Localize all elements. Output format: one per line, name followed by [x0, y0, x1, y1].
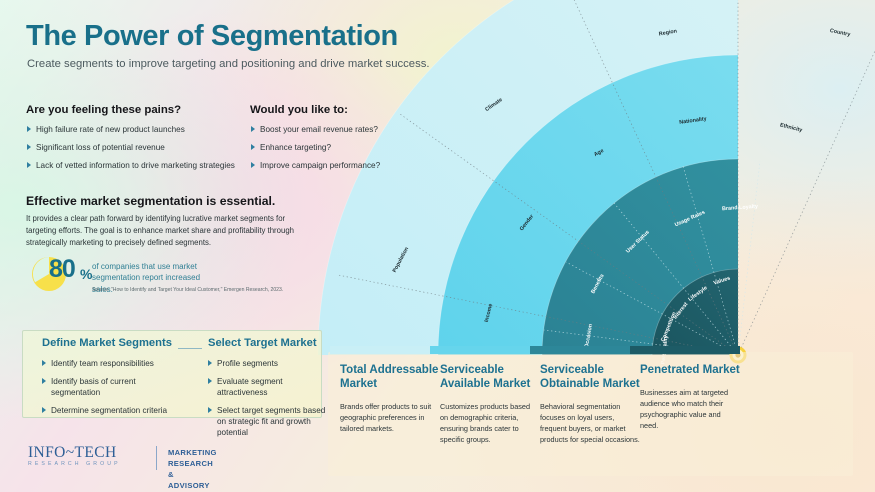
- market-body: Customizes products based on demographic…: [440, 402, 540, 446]
- select-target-heading: Select Target Market: [208, 337, 317, 349]
- page-title: The Power of Segmentation: [26, 20, 398, 53]
- market-swatch-serviceable-available: [430, 346, 540, 354]
- list-item-label: High failure rate of new product launche…: [36, 124, 185, 135]
- market-body: Behavioral segmentation focuses on loyal…: [540, 402, 640, 446]
- market-swatch-penetrated: [630, 346, 740, 354]
- page-subtitle: Create segments to improve targeting and…: [27, 58, 430, 70]
- list-item: Identify team responsibilities: [42, 358, 182, 369]
- bullet-triangle-icon: [27, 144, 31, 150]
- define-segments-list: Identify team responsibilities Identify …: [42, 358, 182, 423]
- market-title: Total Addressable Market: [340, 364, 440, 392]
- list-item-label: Improve campaign performance?: [260, 160, 380, 171]
- logo-tagline: MARKETING RESEARCH & ADVISORY: [168, 447, 217, 491]
- list-item: Identify basis of current segmentation: [42, 376, 182, 398]
- pains-heading: Are you feeling these pains?: [26, 104, 181, 116]
- market-title: Penetrated Market: [640, 364, 740, 378]
- market-column-total-addressable: Total Addressable Market Brands offer pr…: [340, 364, 440, 435]
- bullet-triangle-icon: [42, 407, 46, 413]
- logo-divider: [156, 446, 157, 470]
- market-swatch-serviceable-obtainable: [530, 346, 640, 354]
- list-item: High failure rate of new product launche…: [27, 124, 242, 135]
- essential-heading: Effective market segmentation is essenti…: [26, 194, 275, 208]
- logo-wordmark: INFO~TECH: [28, 444, 121, 462]
- logo-subtext: RESEARCH GROUP: [28, 461, 121, 467]
- logo-tagline-line1: MARKETING RESEARCH: [168, 447, 217, 469]
- list-item-label: Evaluate segment attractiveness: [217, 376, 328, 398]
- bullet-triangle-icon: [251, 126, 255, 132]
- list-item-label: Select target segments based on strategi…: [217, 405, 328, 438]
- list-item-label: Identify basis of current segmentation: [51, 376, 182, 398]
- market-column-penetrated: Penetrated Market Businesses aim at targ…: [640, 364, 740, 432]
- list-item: Boost your email revenue rates?: [251, 124, 431, 135]
- bullet-triangle-icon: [251, 162, 255, 168]
- market-column-serviceable-obtainable: Serviceable Obtainable Market Behavioral…: [540, 364, 640, 446]
- list-item-label: Enhance targeting?: [260, 142, 331, 153]
- define-segments-heading: Define Market Segments: [42, 337, 172, 349]
- heading-divider: [178, 348, 202, 349]
- list-item: Lack of vetted information to drive mark…: [27, 160, 242, 171]
- stat-source: Source: "How to Identify and Target Your…: [92, 287, 292, 293]
- bullet-triangle-icon: [42, 360, 46, 366]
- stat-percent-sign: %: [80, 266, 92, 282]
- market-title: Serviceable Obtainable Market: [540, 364, 640, 392]
- list-item-label: Significant loss of potential revenue: [36, 142, 165, 153]
- market-title: Serviceable Available Market: [440, 364, 540, 392]
- market-column-serviceable-available: Serviceable Available Market Customizes …: [440, 364, 540, 446]
- list-item-label: Lack of vetted information to drive mark…: [36, 160, 235, 171]
- list-item-label: Identify team responsibilities: [51, 358, 154, 369]
- bullet-triangle-icon: [251, 144, 255, 150]
- select-target-list: Profile segments Evaluate segment attrac…: [208, 358, 328, 445]
- bullet-triangle-icon: [208, 407, 212, 413]
- market-swatch-total-addressable: [330, 346, 440, 354]
- market-body: Brands offer products to suit geographic…: [340, 402, 440, 435]
- list-item-label: Profile segments: [217, 358, 278, 369]
- market-body: Businesses aim at targeted audience who …: [640, 388, 740, 432]
- list-item: Improve campaign performance?: [251, 160, 431, 171]
- list-item-label: Determine segmentation criteria: [51, 405, 167, 416]
- bullet-triangle-icon: [208, 360, 212, 366]
- list-item: Enhance targeting?: [251, 142, 431, 153]
- wishes-heading: Would you like to:: [250, 104, 348, 116]
- bullet-triangle-icon: [27, 162, 31, 168]
- list-item-label: Boost your email revenue rates?: [260, 124, 378, 135]
- list-item: Evaluate segment attractiveness: [208, 376, 328, 398]
- essential-body: It provides a clear path forward by iden…: [26, 213, 301, 249]
- list-item: Profile segments: [208, 358, 328, 369]
- bullet-triangle-icon: [27, 126, 31, 132]
- list-item: Determine segmentation criteria: [42, 405, 182, 416]
- pains-list: High failure rate of new product launche…: [27, 124, 242, 178]
- bullet-triangle-icon: [208, 378, 212, 384]
- logo-tagline-line2: & ADVISORY: [168, 469, 217, 491]
- bullet-triangle-icon: [42, 378, 46, 384]
- company-logo: INFO~TECH RESEARCH GROUP MARKETING RESEA…: [28, 444, 121, 467]
- list-item: Significant loss of potential revenue: [27, 142, 242, 153]
- stat-number: 80: [49, 255, 75, 284]
- list-item: Select target segments based on strategi…: [208, 405, 328, 438]
- wishes-list: Boost your email revenue rates? Enhance …: [251, 124, 431, 178]
